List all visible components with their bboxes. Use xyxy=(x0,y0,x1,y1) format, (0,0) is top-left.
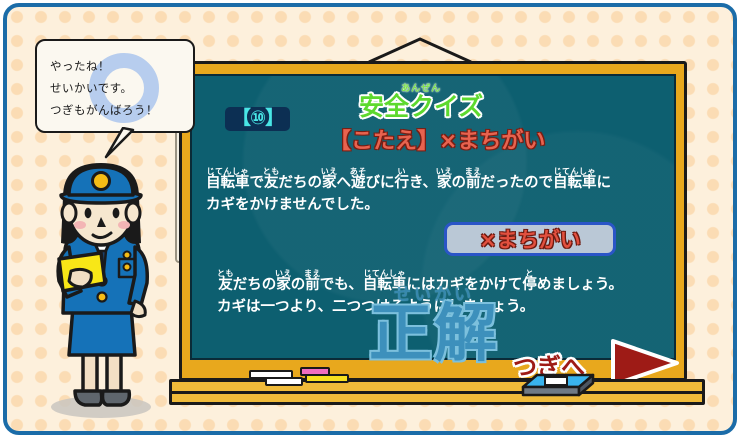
question-line-2: カギをかけませんでした。 xyxy=(206,196,379,214)
quiz-screen: 【⑩】 あんぜん 安全クイズ 【こたえ】×まちがい 自転車じてんしゃで友ともだち… xyxy=(0,0,740,438)
answer-result-label: ×まちがい xyxy=(479,224,581,254)
chalk-yellow xyxy=(305,374,349,383)
explanation-line-1: 友ともだちの家いえの前まえでも、自転車じてんしゃにはカギをかけて停とめましょう。 xyxy=(217,269,623,294)
police-officer-character xyxy=(31,155,171,423)
blackboard-eraser-icon xyxy=(519,369,597,399)
page-frame: 【⑩】 あんぜん 安全クイズ 【こたえ】×まちがい 自転車じてんしゃで友ともだち… xyxy=(3,3,737,435)
speech-line: せいかいです。 xyxy=(50,77,195,99)
quiz-title-text: 安全クイズ xyxy=(359,94,483,120)
answer-headline: 【こたえ】×まちがい xyxy=(329,123,545,155)
quiz-title: あんぜん 安全クイズ xyxy=(359,85,483,120)
question-number-badge: 【⑩】 xyxy=(225,107,290,131)
speech-bubble-text: やったね！ せいかいです。 つぎもがんばろう！ xyxy=(50,55,195,121)
chalk-white xyxy=(265,377,303,386)
explanation-line-2: カギは一つより、二つつけるようにしましょう。 xyxy=(217,298,534,316)
speech-bubble: やったね！ せいかいです。 つぎもがんばろう！ xyxy=(35,39,195,133)
chalk-ledge xyxy=(169,379,705,405)
chalk-ledge-line xyxy=(172,391,702,394)
speech-line: つぎもがんばろう！ xyxy=(50,99,195,121)
speech-line: やったね！ xyxy=(50,55,195,77)
answer-result-chip: ×まちがい xyxy=(444,222,616,256)
question-line-1: 自転車じてんしゃで友ともだちの家いえへ遊あそびに行いき、家いえの前まえだったので… xyxy=(206,167,611,192)
blackboard-hook-icon xyxy=(365,37,475,63)
